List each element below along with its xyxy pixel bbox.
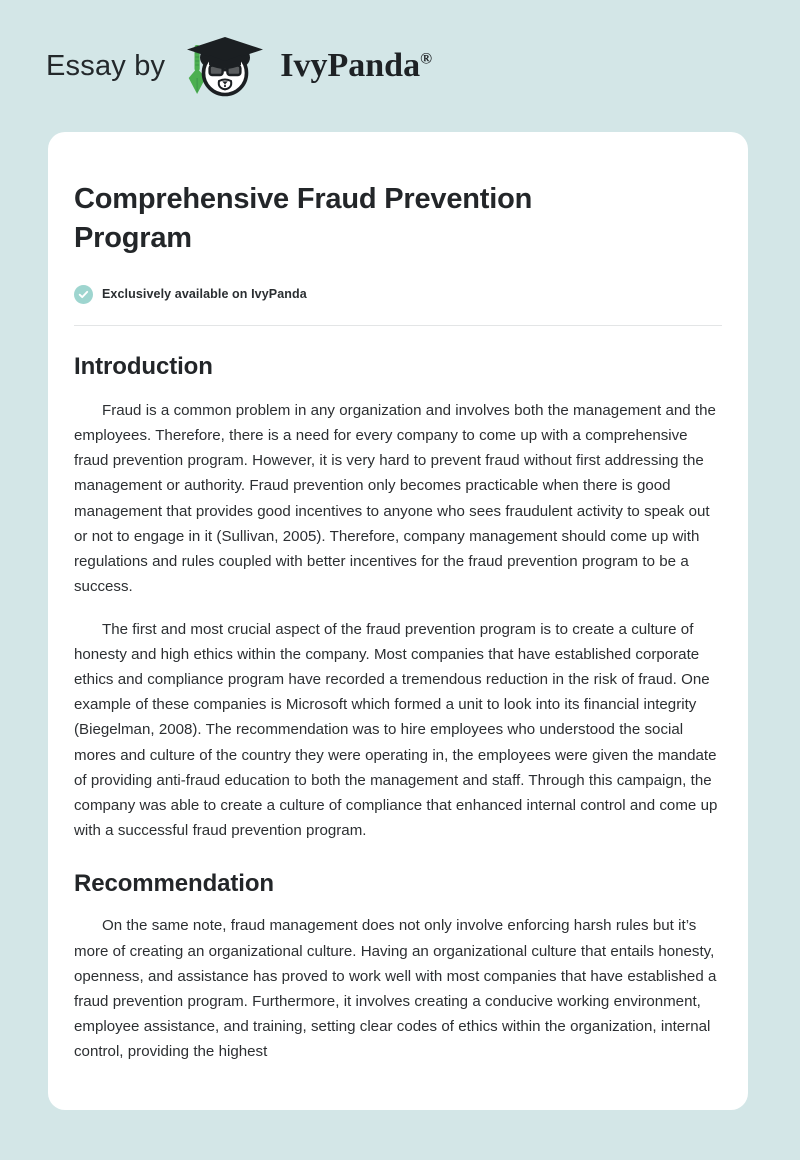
- ivypanda-wordmark: IvyPanda®: [280, 49, 432, 83]
- ivypanda-logo[interactable]: IvyPanda®: [179, 30, 432, 102]
- page-title: Comprehensive Fraud Prevention Program: [74, 180, 634, 259]
- essay-by-label: Essay by: [46, 52, 165, 81]
- check-circle-icon: [74, 285, 93, 304]
- ivypanda-panda-logo-icon: [179, 30, 271, 102]
- status-badge-label: Exclusively available on IvyPanda: [102, 287, 307, 301]
- registered-trademark-symbol: ®: [420, 51, 432, 68]
- section-heading-introduction: Introduction: [74, 353, 722, 381]
- brand-lockup[interactable]: Essay by: [46, 30, 432, 102]
- paragraph: The first and most crucial aspect of the…: [74, 617, 722, 844]
- essay-paper-card: Comprehensive Fraud Prevention Program E…: [48, 132, 748, 1110]
- paragraph: On the same note, fraud management does …: [74, 913, 722, 1064]
- paragraph: Fraud is a common problem in any organiz…: [74, 398, 722, 600]
- paper-content: Comprehensive Fraud Prevention Program E…: [74, 180, 722, 1065]
- section-heading-recommendation: Recommendation: [74, 870, 722, 898]
- site-header: Essay by: [0, 0, 800, 132]
- brand-name-text: IvyPanda: [280, 47, 420, 84]
- title-divider: [74, 325, 722, 326]
- status-badge: Exclusively available on IvyPanda: [74, 285, 722, 304]
